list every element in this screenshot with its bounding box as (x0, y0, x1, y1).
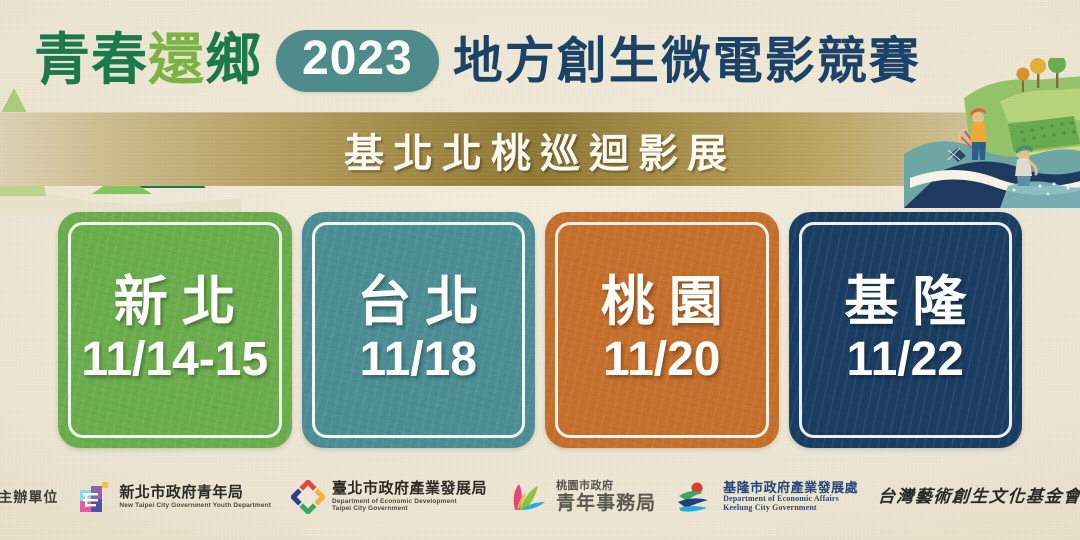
card-city-name: 台北 (343, 273, 493, 332)
subtitle: 基北北桃巡迴影展 (0, 124, 1080, 176)
card-taoyuan[interactable]: 桃園 11/20 (545, 212, 779, 448)
card-label: 新北 11/14-15 (58, 212, 292, 448)
logo-taiwan-art-foundation: 台灣藝術創生文化基金會 (878, 487, 1080, 506)
logo-zh-name: 基隆市政府產業發展處 (723, 481, 858, 496)
card-date: 11/22 (847, 334, 964, 387)
taipei-economic-development-logo-icon (291, 480, 325, 514)
card-label: 台北 11/18 (302, 212, 536, 448)
organiser-label: 主辦單位 (0, 487, 58, 507)
logo-taoyuan-youth-affairs: 桃園市政府 青年事務局 (507, 480, 656, 514)
logo-zh-name: 台灣藝術創生文化基金會 (877, 487, 1080, 506)
logo-text: 基隆市政府產業發展處 Department of Economic Affair… (723, 481, 858, 513)
logo-text: 台灣藝術創生文化基金會 (878, 487, 1080, 506)
card-new-taipei[interactable]: 新北 11/14-15 (58, 212, 292, 448)
logo-en-line2: Taipei City Government (332, 505, 487, 512)
logo-new-taipei-youth: 新北市政府青年局 New Taipei City Government Yout… (78, 480, 271, 514)
card-taipei[interactable]: 台北 11/18 (302, 212, 536, 448)
poster: 青春還鄉 2023 地方創生微電影競賽 基北北桃巡迴影展 新北 11/14-15… (0, 0, 1080, 540)
card-city-name: 基隆 (830, 273, 980, 332)
logo-en-name: New Taipei City Government Youth Departm… (119, 502, 271, 509)
taoyuan-youth-affairs-logo-icon (507, 480, 549, 514)
city-cards: 新北 11/14-15 台北 11/18 桃園 11/20 基隆 (58, 212, 1022, 448)
logo-text: 桃園市政府 青年事務局 (556, 480, 656, 514)
logo-zh-name: 臺北市政府產業發展局 (332, 481, 487, 498)
card-date: 11/18 (360, 334, 477, 387)
logo-zh-org: 桃園市政府 (556, 480, 656, 492)
logo-zh-name: 青年事務局 (556, 493, 656, 514)
card-city-name: 桃園 (587, 273, 737, 332)
footer-logos: 主辦單位 新北市政府青年局 New Taipei City Government… (0, 458, 1080, 536)
page-title: 地方創生微電影競賽 (453, 36, 921, 86)
card-keelung[interactable]: 基隆 11/22 (789, 212, 1023, 448)
card-label: 基隆 11/22 (789, 212, 1023, 448)
brand-part1: 青春 (34, 28, 148, 93)
brand-part3: 鄉 (205, 28, 262, 93)
logo-zh-name: 新北市政府青年局 (119, 485, 271, 502)
card-label: 桃園 11/20 (545, 212, 779, 448)
year-badge: 2023 (276, 30, 439, 91)
card-city-name: 新北 (100, 273, 250, 332)
card-date: 11/20 (603, 334, 720, 387)
logo-keelung-economic-affairs: 基隆市政府產業發展處 Department of Economic Affair… (676, 480, 858, 514)
poster-header: 青春還鄉 2023 地方創生微電影競賽 基北北桃巡迴影展 (0, 0, 1080, 190)
logo-text: 臺北市政府產業發展局 Department of Economic Develo… (332, 481, 487, 512)
brand-logo: 青春還鄉 (34, 33, 262, 89)
logo-text: 新北市政府青年局 New Taipei City Government Yout… (119, 485, 271, 509)
logo-en-line1: Department of Economic Development (332, 498, 487, 505)
logo-taipei-economic-development: 臺北市政府產業發展局 Department of Economic Develo… (291, 480, 487, 514)
brand-part2: 還 (148, 28, 205, 93)
card-date: 11/14-15 (81, 334, 268, 387)
logo-en-line2: Keelung City Government (723, 504, 858, 513)
new-taipei-youth-logo-icon (78, 480, 112, 514)
keelung-economic-affairs-logo-icon (676, 480, 716, 514)
title-row: 青春還鄉 2023 地方創生微電影競賽 (34, 22, 1054, 100)
